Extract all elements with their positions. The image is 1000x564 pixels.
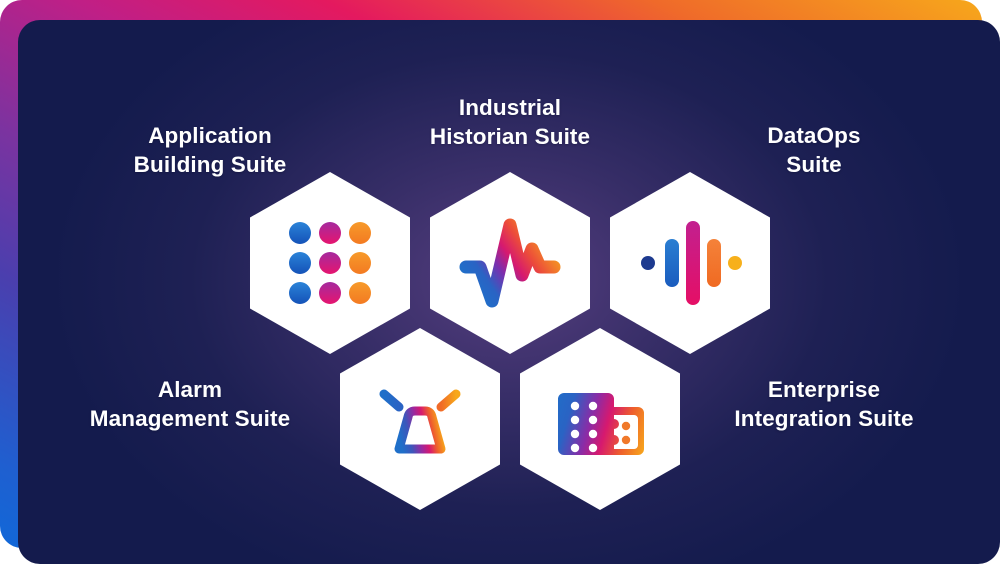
suite-label-industrial-historian: Industrial Historian Suite bbox=[388, 94, 632, 152]
alarm-beacon-icon bbox=[375, 374, 465, 464]
dark-panel: Application Building Suite Industrial Hi… bbox=[18, 20, 1000, 564]
audio-bars-icon bbox=[645, 218, 735, 308]
suite-hexagon-industrial-historian[interactable] bbox=[430, 172, 590, 354]
factory-building-icon bbox=[555, 374, 645, 464]
suite-hexagon-dataops[interactable] bbox=[610, 172, 770, 354]
grid-dots-icon bbox=[285, 218, 375, 308]
suite-stage: Application Building Suite Industrial Hi… bbox=[18, 20, 1000, 564]
suite-label-enterprise-integration: Enterprise Integration Suite bbox=[668, 376, 980, 434]
suite-label-application-building: Application Building Suite bbox=[50, 122, 370, 180]
suite-hexagon-alarm-management[interactable] bbox=[340, 328, 500, 510]
suite-label-dataops: DataOps Suite bbox=[666, 122, 962, 180]
slide-canvas: Application Building Suite Industrial Hi… bbox=[0, 0, 1000, 564]
suite-hexagon-enterprise-integration[interactable] bbox=[520, 328, 680, 510]
suite-hexagon-application-building[interactable] bbox=[250, 172, 410, 354]
waveform-pulse-icon bbox=[465, 218, 555, 308]
suite-label-alarm-management: Alarm Management Suite bbox=[42, 376, 338, 434]
